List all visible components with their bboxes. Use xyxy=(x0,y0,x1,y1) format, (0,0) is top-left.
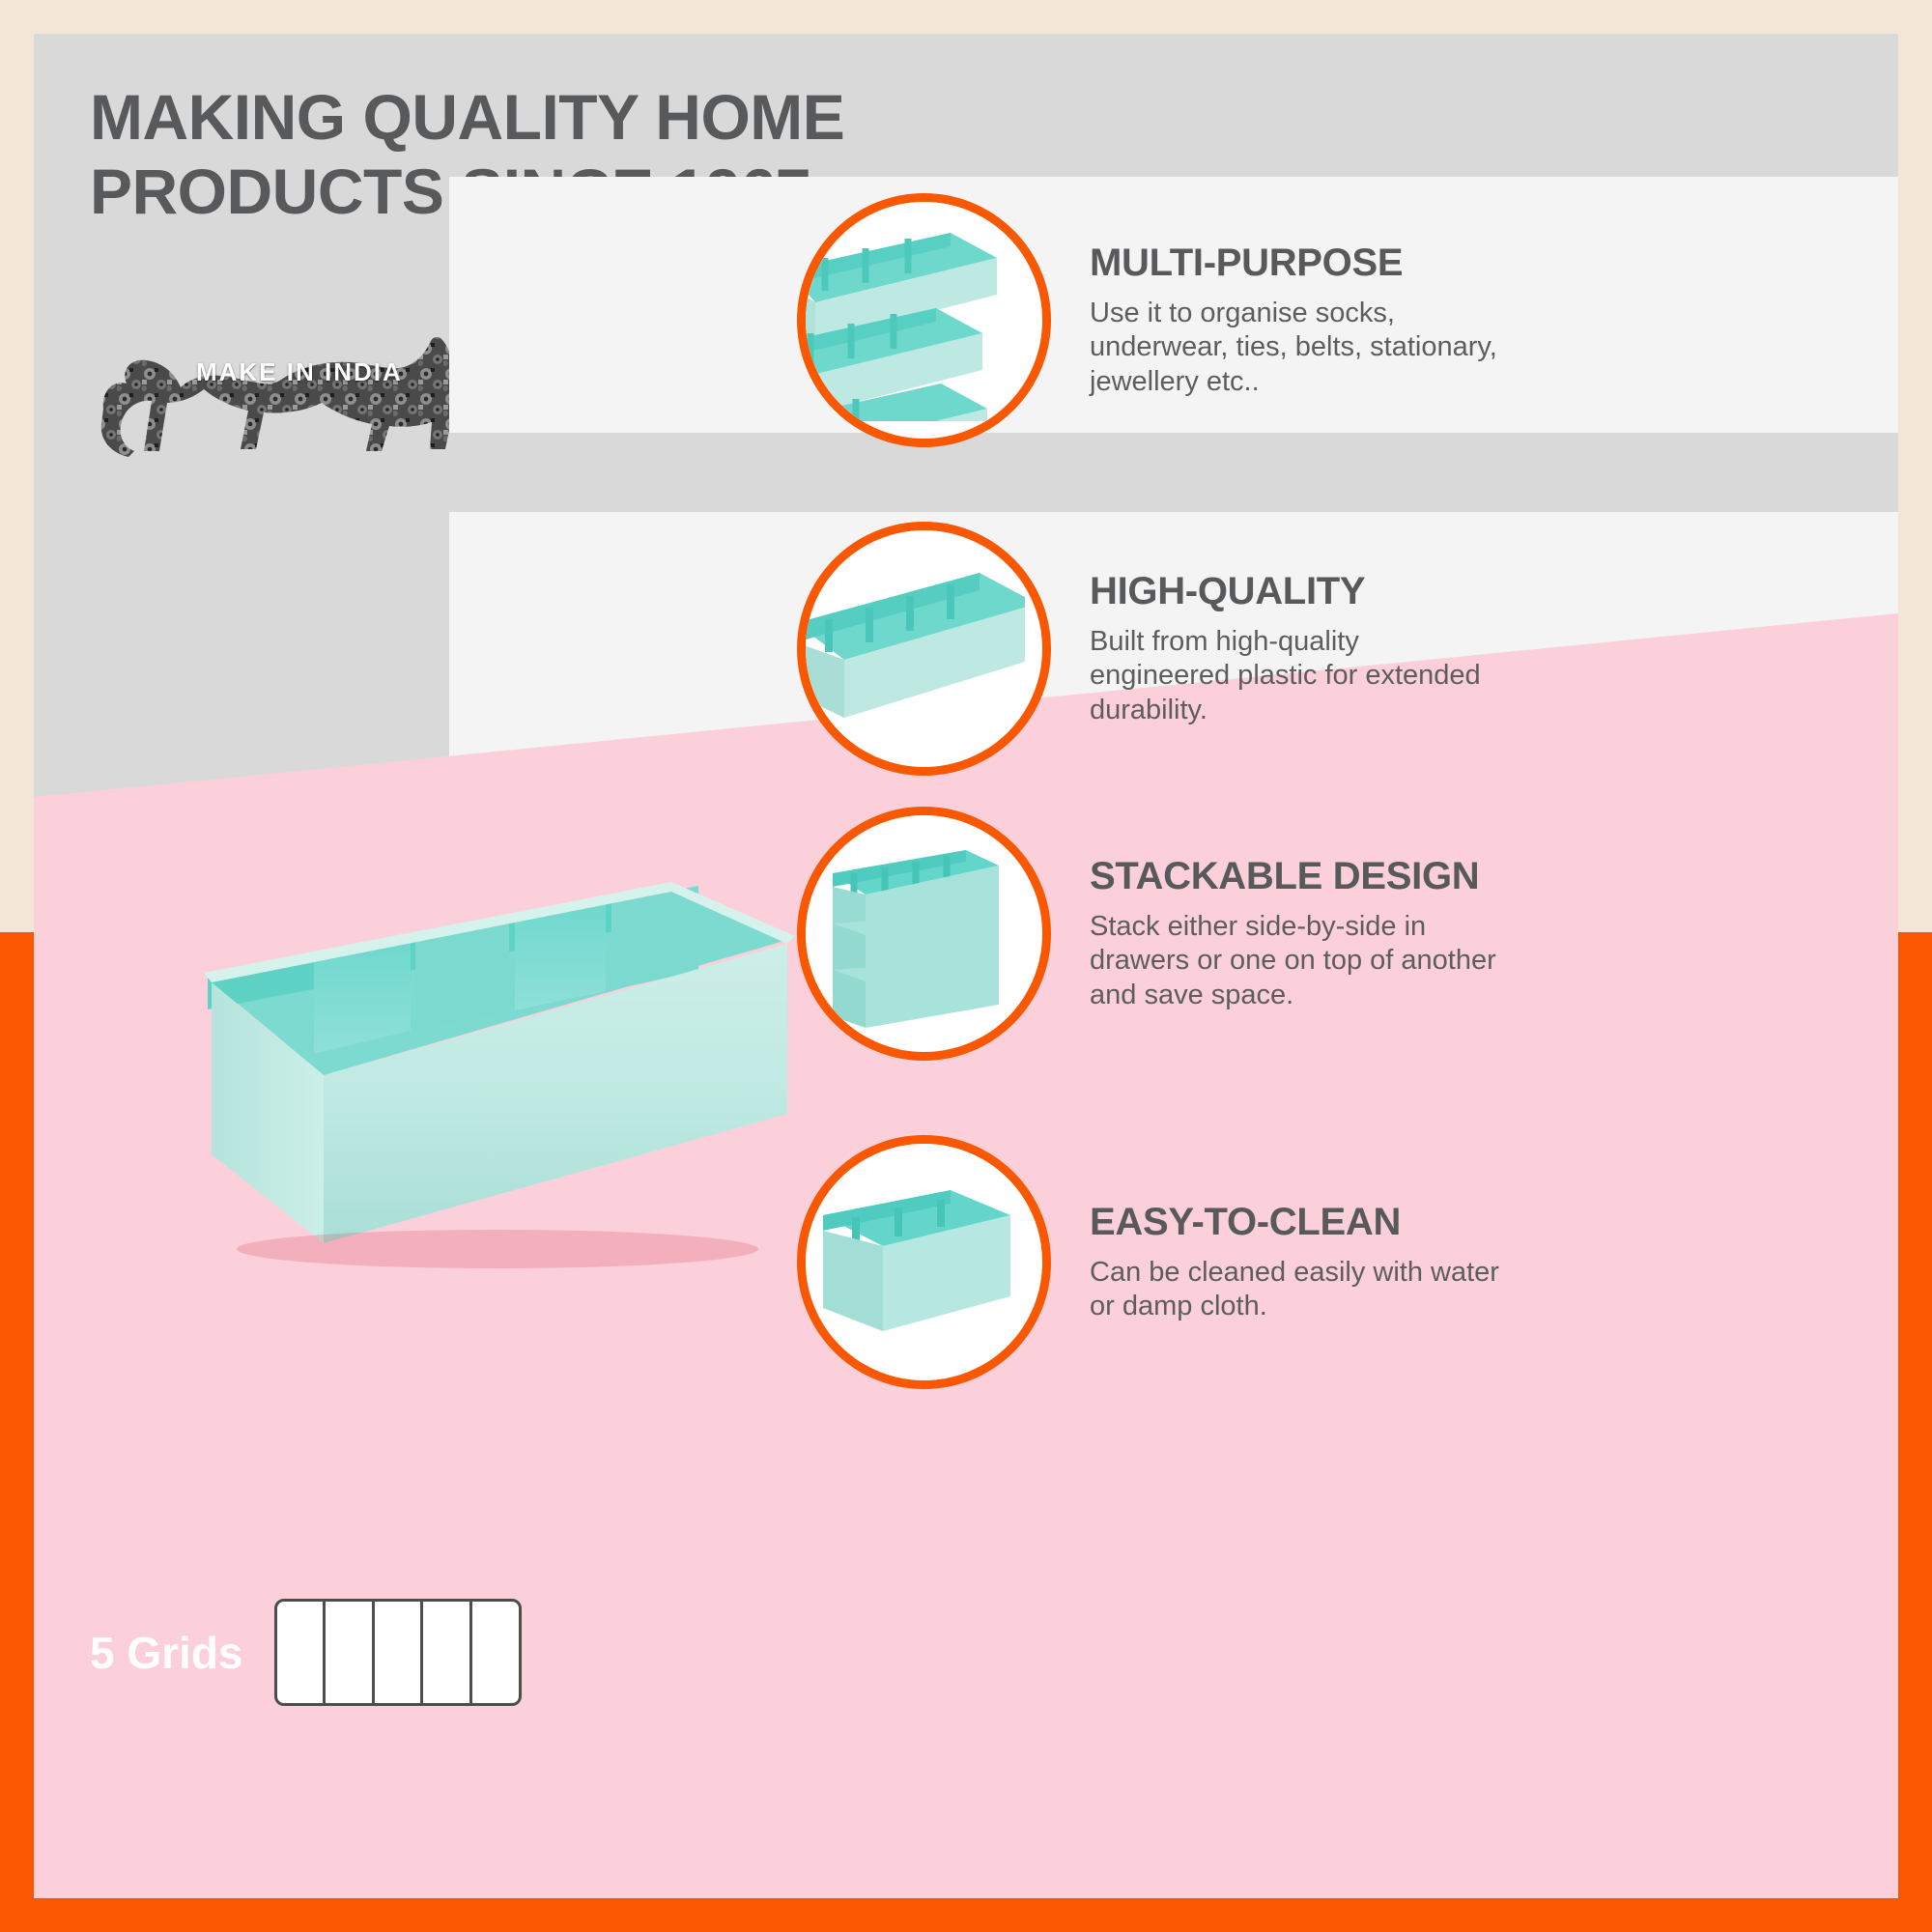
grid-count-indicator: 5 Grids xyxy=(90,1599,522,1706)
feature-title: EASY-TO-CLEAN xyxy=(1090,1201,1505,1244)
grid-cell xyxy=(326,1602,375,1703)
feature-item-stackable-design: STACKABLE DESIGN Stack either side-by-si… xyxy=(797,807,1505,1061)
grid-cell xyxy=(277,1602,327,1703)
feature-item-high-quality: HIGH-QUALITY Built from high-quality eng… xyxy=(797,522,1505,776)
grid-cell xyxy=(423,1602,472,1703)
feature-body: Stack either side-by-side in drawers or … xyxy=(1090,910,1505,1012)
grid-count-label: 5 Grids xyxy=(90,1627,243,1679)
feature-title: MULTI-PURPOSE xyxy=(1090,241,1505,285)
feature-title: HIGH-QUALITY xyxy=(1090,570,1505,613)
make-in-india-label: MAKE IN INDIA xyxy=(196,357,403,387)
hero-product-image xyxy=(169,865,797,1270)
feature-image-easy-to-clean xyxy=(797,1135,1051,1389)
product-infographic: MAKING QUALITY HOME PRODUCTS SINCE 1967 xyxy=(0,0,1932,1932)
feature-image-multi-purpose xyxy=(797,193,1051,447)
feature-image-high-quality xyxy=(797,522,1051,776)
grid-cell xyxy=(375,1602,424,1703)
feature-body: Built from high-quality engineered plast… xyxy=(1090,625,1505,727)
feature-image-stackable-design xyxy=(797,807,1051,1061)
infographic-canvas: MAKING QUALITY HOME PRODUCTS SINCE 1967 xyxy=(34,34,1898,1898)
feature-title: STACKABLE DESIGN xyxy=(1090,855,1505,898)
make-in-india-logo: MAKE IN INDIA xyxy=(92,266,478,464)
feature-item-easy-to-clean: EASY-TO-CLEAN Can be cleaned easily with… xyxy=(797,1135,1505,1389)
feature-body: Can be cleaned easily with water or damp… xyxy=(1090,1256,1505,1324)
feature-body: Use it to organise socks, underwear, tie… xyxy=(1090,297,1505,399)
grid-cell xyxy=(472,1602,519,1703)
feature-item-multi-purpose: MULTI-PURPOSE Use it to organise socks, … xyxy=(797,193,1505,447)
grid-icon xyxy=(274,1599,522,1706)
